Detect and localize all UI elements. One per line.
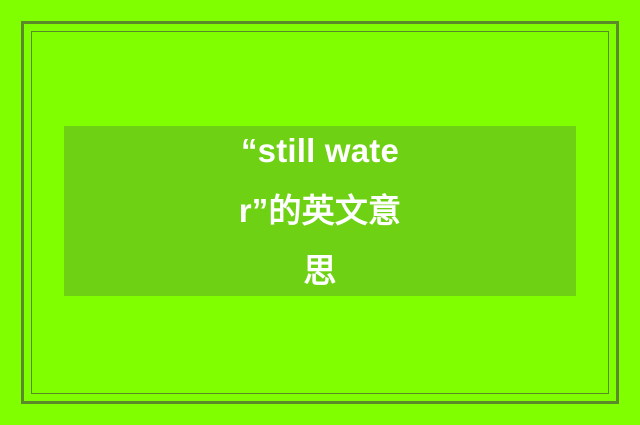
title-card: “still water”的英文意思 — [64, 126, 576, 296]
banner-canvas: “still water”的英文意思 — [0, 0, 640, 425]
page-title: “still water”的英文意思 — [230, 121, 410, 301]
